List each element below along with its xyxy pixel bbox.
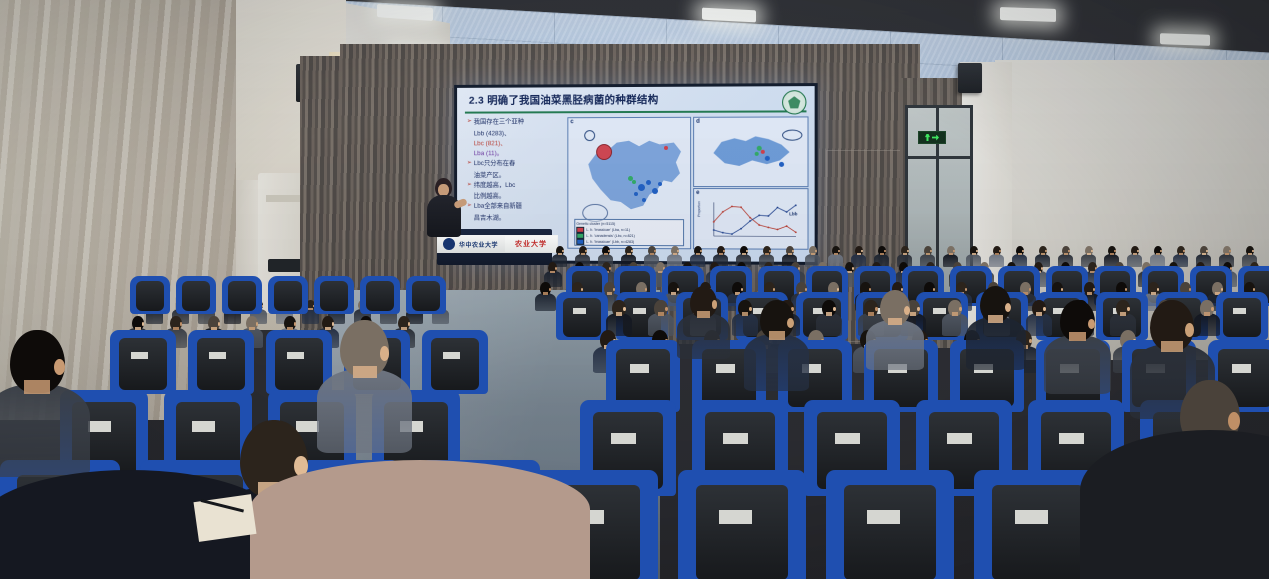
person-ear bbox=[408, 322, 410, 326]
slide-bullet: ➢纬度越高，Lbc bbox=[467, 180, 562, 190]
person-neck bbox=[24, 380, 50, 394]
seat-number-label bbox=[1059, 433, 1084, 445]
seat-number-label bbox=[296, 421, 319, 432]
map-dot bbox=[638, 184, 645, 191]
person-neck bbox=[1156, 253, 1160, 255]
person-neck bbox=[888, 318, 902, 326]
person-neck bbox=[1087, 253, 1091, 255]
person-neck bbox=[1069, 332, 1086, 341]
person-neck bbox=[543, 292, 548, 295]
person-neck bbox=[903, 253, 907, 255]
slide-bullet: 昌吉木湖。 bbox=[467, 214, 562, 224]
person-ear bbox=[549, 288, 551, 291]
seat-panel bbox=[563, 298, 600, 336]
auditorium-seat[interactable] bbox=[556, 292, 608, 340]
person-ear bbox=[332, 322, 334, 326]
seat-panel bbox=[412, 281, 441, 311]
slide-bullet-list: ➢我国存在三个亚种Lbb (4283)、Lbc (821)、Lba (11)。➢… bbox=[467, 117, 562, 224]
map-dot bbox=[646, 180, 651, 185]
map-dot bbox=[761, 150, 765, 154]
seat-number-label bbox=[88, 421, 111, 432]
person-torso bbox=[667, 254, 682, 267]
person-neck bbox=[926, 253, 930, 255]
seat-number-label bbox=[1232, 364, 1251, 373]
slide-bullet-text: Lba全部来自新疆 bbox=[474, 202, 522, 212]
person-ear bbox=[917, 307, 920, 311]
slide-bullet: ➢Lbc只分布在春 bbox=[467, 159, 562, 169]
person-neck bbox=[765, 253, 769, 255]
auditorium-photo: 2.3 明确了我国油菜黑胫病菌的种群结构 ➢我国存在三个亚种Lbb (4283)… bbox=[0, 0, 1269, 579]
person-torso bbox=[866, 320, 924, 371]
person-neck bbox=[995, 253, 999, 255]
seat-panel bbox=[992, 485, 1084, 579]
university-crest bbox=[443, 238, 455, 250]
person-neck bbox=[1179, 253, 1183, 255]
person-neck bbox=[719, 253, 723, 255]
seat-number-label bbox=[443, 352, 460, 360]
person-neck bbox=[1202, 253, 1206, 255]
map-dot bbox=[642, 198, 646, 202]
notepad bbox=[193, 494, 256, 542]
slide-title: 2.3 明确了我国油菜黑胫病菌的种群结构 bbox=[469, 91, 774, 110]
foreground-attendee bbox=[1080, 430, 1269, 579]
person-neck bbox=[910, 312, 916, 315]
panel-c-tag: c bbox=[570, 119, 573, 125]
person-torso bbox=[1150, 254, 1165, 267]
bullet-marker-icon: ➢ bbox=[467, 159, 472, 167]
auditorium-seat[interactable] bbox=[1216, 292, 1268, 340]
slide-panel-e: e Proportion Lbb bbox=[693, 188, 808, 250]
seat-number-label bbox=[611, 433, 636, 445]
person-ear bbox=[773, 288, 775, 291]
person-torso bbox=[677, 313, 730, 359]
person-torso bbox=[966, 317, 1026, 370]
map-marker-xinjiang bbox=[596, 144, 612, 160]
person-neck bbox=[949, 253, 953, 255]
latitude-proportion-chart bbox=[708, 197, 801, 242]
auditorium-seat[interactable] bbox=[406, 276, 446, 314]
slide-bullet: Lba (11)。 bbox=[467, 149, 562, 159]
person-neck bbox=[1133, 253, 1137, 255]
stage-banner: 农业大学 bbox=[505, 236, 557, 252]
slide-bullet: 比例越高。 bbox=[467, 192, 562, 202]
legend-label: L. b. 'brassicae' (Lba, n=11) bbox=[586, 228, 630, 234]
person-ear bbox=[1125, 288, 1127, 291]
person-ear bbox=[665, 307, 668, 311]
person-neck bbox=[788, 253, 792, 255]
person-neck bbox=[308, 308, 312, 310]
slide-bullet: Lbb (4283)、 bbox=[467, 129, 562, 139]
seat-panel bbox=[844, 485, 936, 579]
person-ear bbox=[1253, 288, 1255, 291]
map-dot bbox=[632, 180, 636, 184]
auditorium-seat[interactable] bbox=[360, 276, 400, 314]
auditorium-seat[interactable] bbox=[678, 470, 806, 579]
person-neck bbox=[847, 271, 851, 273]
auditorium-seat[interactable] bbox=[130, 276, 170, 314]
person-torso bbox=[732, 313, 758, 336]
auditorium-seat[interactable] bbox=[110, 330, 176, 394]
seat-panel bbox=[182, 281, 211, 311]
person-neck bbox=[1041, 253, 1045, 255]
seat-number-label bbox=[633, 308, 647, 314]
slide-title-divider bbox=[465, 110, 807, 113]
map-legend: Genetic cluster (n=5115)L. b. 'brassicae… bbox=[576, 222, 678, 246]
person-ear bbox=[1061, 288, 1063, 291]
person-neck bbox=[1120, 312, 1126, 315]
seat-panel bbox=[119, 338, 167, 389]
person-ear bbox=[712, 300, 717, 308]
person-torso bbox=[317, 369, 412, 453]
seat-number-label bbox=[716, 364, 735, 373]
slide-panel-d: d bbox=[693, 116, 808, 187]
seat-number-label bbox=[867, 510, 900, 524]
presenter bbox=[425, 178, 463, 236]
seat-number-label bbox=[573, 308, 587, 314]
person-neck bbox=[1248, 253, 1252, 255]
person-neck bbox=[1018, 253, 1022, 255]
legend-label: L. b. 'brassicae' (Lbb, n=4283) bbox=[586, 240, 634, 246]
slide-bullet-text: 我国存在三个亚种 bbox=[474, 117, 524, 127]
slide-bullet-text: Lbc只分布在春 bbox=[474, 159, 516, 169]
person-ear bbox=[869, 288, 871, 291]
person-neck bbox=[826, 312, 832, 315]
person-neck bbox=[880, 253, 884, 255]
person-ear bbox=[933, 288, 935, 291]
chart-y-axis-label: Proportion bbox=[697, 201, 701, 217]
person-neck bbox=[1204, 312, 1210, 315]
arrow-right-icon bbox=[932, 135, 939, 141]
person-neck bbox=[811, 253, 815, 255]
seat-panel bbox=[366, 281, 395, 311]
seat-panel bbox=[228, 281, 257, 311]
person-neck bbox=[697, 311, 710, 318]
seat-panel bbox=[616, 349, 669, 407]
person-neck bbox=[1225, 253, 1229, 255]
seat-number-label bbox=[719, 510, 752, 524]
slide-bullet-text: 纬度越高，Lbc bbox=[474, 180, 516, 190]
person-ear bbox=[833, 307, 836, 311]
auditorium-seat[interactable] bbox=[826, 470, 954, 579]
lectern-institution-text: 华中农业大学 bbox=[459, 240, 498, 249]
person-neck bbox=[581, 253, 585, 255]
person-neck bbox=[616, 312, 622, 315]
person-neck bbox=[658, 312, 664, 315]
ceiling-light-6 bbox=[1160, 33, 1210, 46]
person-neck bbox=[972, 253, 976, 255]
stage-banner-text: 农业大学 bbox=[515, 239, 547, 249]
person-ear bbox=[1221, 288, 1223, 291]
slide-bullet: ➢我国存在三个亚种 bbox=[467, 117, 562, 127]
map-dot bbox=[652, 188, 658, 194]
bullet-marker-icon: ➢ bbox=[467, 180, 472, 188]
exit-sign bbox=[918, 131, 946, 144]
person-neck bbox=[558, 253, 562, 255]
person-ear bbox=[959, 307, 962, 311]
map-dot bbox=[664, 146, 668, 150]
person-torso bbox=[1194, 313, 1220, 336]
person-ear bbox=[180, 322, 182, 326]
map-dot bbox=[765, 156, 770, 161]
slide-bullet-text: 昌吉木湖。 bbox=[474, 215, 505, 222]
wall-speaker-right bbox=[958, 63, 982, 93]
seat-number-label bbox=[933, 308, 947, 314]
slide-bullet: ➢Lba全部来自新疆 bbox=[467, 202, 562, 212]
seat-number-label bbox=[835, 433, 860, 445]
person-ear bbox=[581, 288, 583, 291]
person-neck bbox=[353, 366, 377, 379]
seat-number-label bbox=[192, 421, 215, 432]
person-neck bbox=[1036, 312, 1042, 315]
qinghai-map bbox=[710, 132, 791, 178]
person-ear bbox=[142, 322, 144, 326]
seat-panel bbox=[275, 338, 323, 389]
slide-bullet-text: 比例越高。 bbox=[474, 193, 505, 200]
person-torso bbox=[1127, 254, 1142, 267]
person-neck bbox=[769, 331, 785, 340]
seat-number-label bbox=[131, 352, 148, 360]
qinghai-scale-icon bbox=[782, 130, 802, 141]
person-ear bbox=[904, 306, 910, 315]
person-neck bbox=[1161, 341, 1182, 352]
person-neck bbox=[857, 253, 861, 255]
person-ear bbox=[965, 288, 967, 291]
slide-bullet-text: 油菜产区。 bbox=[474, 172, 505, 179]
slide-bullet: 油菜产区。 bbox=[467, 171, 562, 181]
auditorium-seat[interactable] bbox=[222, 276, 262, 314]
person-ear bbox=[54, 359, 65, 375]
panel-e-tag: e bbox=[696, 190, 699, 196]
person-ear bbox=[1127, 307, 1130, 311]
person-torso bbox=[966, 254, 981, 267]
person-ear bbox=[875, 307, 878, 311]
person-neck bbox=[604, 253, 608, 255]
person-neck bbox=[742, 253, 746, 255]
person-torso bbox=[989, 254, 1004, 267]
door-rail bbox=[908, 156, 970, 159]
person-ear bbox=[623, 307, 626, 311]
person-ear bbox=[677, 288, 679, 291]
running-man-icon bbox=[925, 134, 930, 141]
legend-swatch bbox=[576, 239, 584, 245]
person-ear bbox=[218, 322, 220, 326]
person-ear bbox=[1189, 288, 1191, 291]
person-torso bbox=[744, 334, 809, 391]
auditorium-seat[interactable] bbox=[422, 330, 488, 394]
seat-panel bbox=[1223, 298, 1260, 336]
person-ear bbox=[1093, 288, 1095, 291]
seat-panel bbox=[431, 338, 479, 389]
ceiling-light-3 bbox=[702, 8, 756, 23]
pen-icon bbox=[201, 499, 244, 513]
person-ear bbox=[787, 318, 794, 328]
seat-number-label bbox=[209, 352, 226, 360]
person-ear bbox=[837, 288, 839, 291]
person-ear bbox=[613, 288, 615, 291]
panel-d-tag: d bbox=[696, 119, 700, 125]
person-neck bbox=[627, 253, 631, 255]
person-ear bbox=[294, 322, 296, 326]
person-neck bbox=[650, 253, 654, 255]
person-ear bbox=[256, 322, 258, 326]
slide-panel-c: c Genetic cluster (n=5115)L. b. 'brassic… bbox=[567, 117, 691, 249]
auditorium-seat[interactable] bbox=[188, 330, 254, 394]
person-ear bbox=[1228, 412, 1240, 430]
person-torso bbox=[1044, 335, 1112, 394]
map-dot bbox=[779, 162, 784, 167]
seat-number-label bbox=[630, 364, 649, 373]
seat-number-label bbox=[1015, 510, 1048, 524]
person-torso bbox=[535, 293, 556, 311]
person-ear bbox=[645, 288, 647, 291]
person-neck bbox=[988, 315, 1003, 323]
person-torso bbox=[828, 254, 843, 267]
university-seal-logo bbox=[782, 90, 806, 114]
person-neck bbox=[550, 271, 554, 273]
auditorium-seat[interactable] bbox=[176, 276, 216, 314]
person-ear bbox=[1211, 307, 1214, 311]
seat-number-label bbox=[947, 433, 972, 445]
auditorium-seat[interactable] bbox=[268, 276, 308, 314]
map-legend-item: L. b. 'brassicae' (Lbb, n=4283) bbox=[576, 239, 678, 245]
slide-bullet: Lbc (821)、 bbox=[467, 139, 562, 149]
map-dot bbox=[634, 192, 638, 196]
slide-bullet-text: Lbc (821)、 bbox=[474, 140, 507, 147]
person-ear bbox=[1043, 307, 1046, 311]
seat-panel bbox=[274, 281, 303, 311]
compass-icon bbox=[584, 130, 595, 141]
person-neck bbox=[834, 253, 838, 255]
auditorium-seat[interactable] bbox=[314, 276, 354, 314]
person-torso bbox=[942, 313, 968, 336]
person-neck bbox=[952, 312, 958, 315]
bullet-marker-icon: ➢ bbox=[467, 202, 472, 210]
seat-panel bbox=[197, 338, 245, 389]
bullet-marker-icon: ➢ bbox=[467, 118, 472, 126]
person-neck bbox=[673, 253, 677, 255]
person-neck bbox=[868, 312, 874, 315]
slide-bullet-text: Lba (11)。 bbox=[474, 150, 503, 157]
person-ear bbox=[1185, 323, 1194, 336]
slide-bullet-text: Lbb (4283)、 bbox=[474, 130, 511, 137]
person-torso bbox=[0, 384, 90, 476]
person-torso bbox=[690, 254, 705, 267]
person-neck bbox=[696, 253, 700, 255]
chart-svg bbox=[708, 197, 801, 242]
seat-number-label bbox=[287, 352, 304, 360]
person-ear bbox=[805, 288, 807, 291]
seat-panel bbox=[696, 485, 788, 579]
person-neck bbox=[1110, 253, 1114, 255]
map-dot bbox=[658, 182, 662, 186]
map-dot bbox=[755, 152, 759, 156]
legend-label: L. b. 'canadensis' (Lbc, n=821) bbox=[586, 234, 635, 240]
person-ear bbox=[749, 307, 752, 311]
seat-panel bbox=[136, 281, 165, 311]
person-neck bbox=[1064, 253, 1068, 255]
ceiling-light-5 bbox=[1000, 7, 1056, 22]
person-neck bbox=[742, 312, 748, 315]
seat-number-label bbox=[1233, 308, 1247, 314]
seat-number-label bbox=[723, 433, 748, 445]
person-ear bbox=[1157, 288, 1159, 291]
person-ear bbox=[1029, 288, 1031, 291]
seat-panel bbox=[320, 281, 349, 311]
person-ear bbox=[741, 288, 743, 291]
foreground-attendee bbox=[250, 460, 590, 579]
